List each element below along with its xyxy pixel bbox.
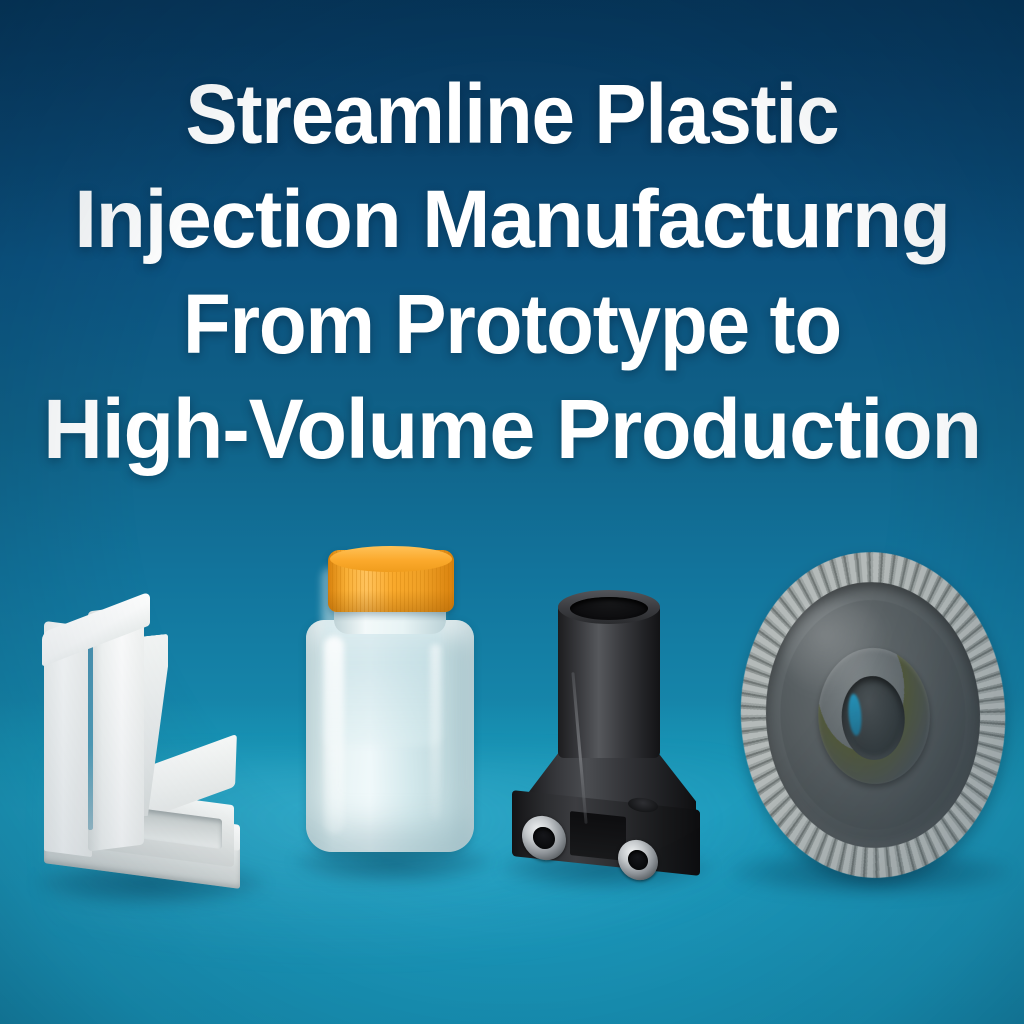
bottle-cap-shading	[328, 590, 454, 612]
product-translucent-bottle	[300, 540, 480, 890]
headline-line-2: Injection Manufacturng	[8, 167, 1016, 272]
headline-line-1: Streamline Plastic	[43, 62, 980, 167]
product-grey-spur-gear	[726, 552, 1024, 892]
bottle-cap-top	[330, 546, 452, 572]
headline-line-3: From Prototype to	[43, 272, 980, 377]
poster-canvas: Streamline Plastic Injection Manufacturn…	[0, 0, 1024, 1024]
gear-body	[729, 540, 1018, 890]
product-white-l-bracket	[30, 600, 260, 900]
bracket-post-slot	[88, 618, 93, 831]
bottle-highlight-right	[430, 644, 441, 820]
bottle-highlight-left	[324, 636, 344, 834]
mount-tube-bore	[570, 597, 648, 620]
headline-line-4: High-Volume Production	[16, 377, 1009, 482]
product-black-bushing-mount	[500, 588, 710, 888]
headline: Streamline Plastic Injection Manufacturn…	[0, 62, 1024, 482]
